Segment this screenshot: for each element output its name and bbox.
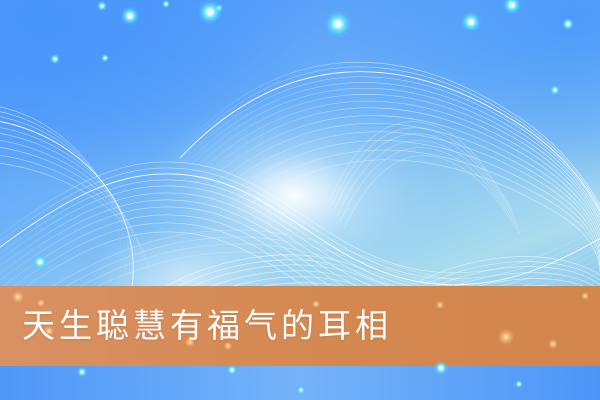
caption-title: 天生聪慧有福气的耳相 bbox=[22, 307, 392, 345]
banner-image: 天生聪慧有福气的耳相 bbox=[0, 0, 600, 400]
footer-strip bbox=[0, 366, 600, 400]
